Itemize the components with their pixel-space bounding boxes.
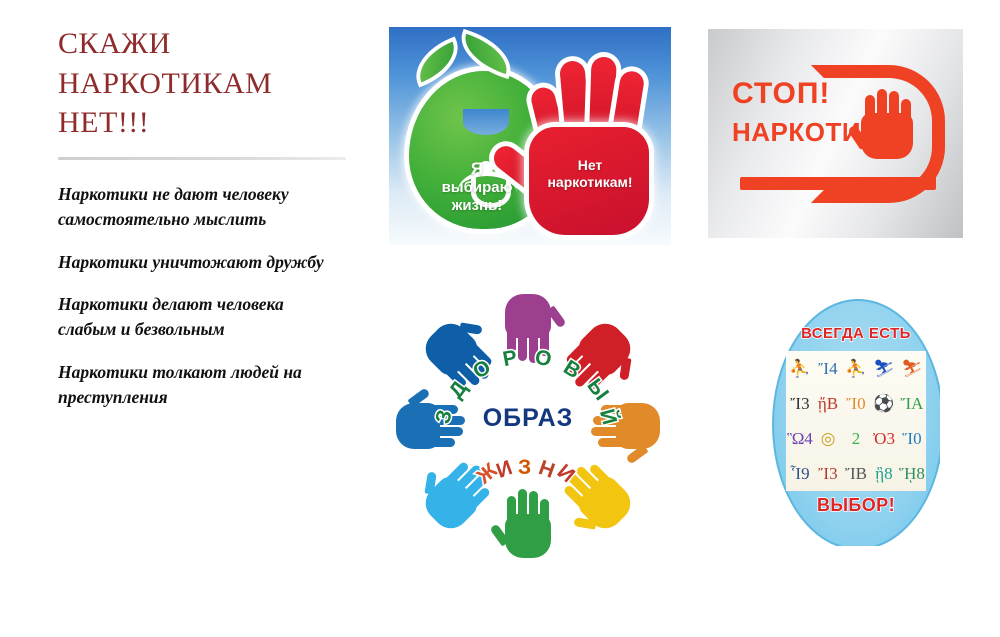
apple-slogan-line-2: выбираю — [442, 179, 513, 196]
volleyball-player-icon: Ἵ0 — [898, 421, 926, 456]
sprinter-icon: Ἴ3 — [814, 456, 842, 491]
swimmer-icon: ἼA — [898, 386, 926, 421]
list-item: Наркотики делают человека слабым и безво… — [58, 292, 336, 343]
left-text-column: СКАЖИ НАРКОТИКАМ НЕТ!!! Наркотики не даю… — [58, 24, 358, 427]
list-item: Наркотики толкают людей на преступления — [58, 360, 336, 411]
hand-slogan-line-2: наркотикам! — [547, 174, 632, 190]
basketball-ball-icon: Ἴ0 — [842, 386, 870, 421]
ring-letter: В — [558, 356, 584, 384]
ring-letter: Р — [501, 346, 519, 372]
green-ball-icon: ὾2 — [842, 421, 870, 456]
stop-hand-icon — [855, 83, 917, 161]
choice-slogan-top: ВСЕГДА ЕСТЬ — [772, 325, 940, 342]
skater-icon: ⛷ — [870, 351, 898, 386]
basketball-player-icon: ⛹ — [842, 351, 870, 386]
stop-bar-shape — [740, 177, 936, 190]
poster-healthy-lifestyle: ЗДОРОВЫЙ ОБРАЗ ЖИЗНИ — [378, 286, 678, 566]
ski-jump-icon: ⛷ — [898, 351, 926, 386]
ring-letter: О — [533, 346, 554, 373]
title-divider — [58, 157, 346, 160]
jumper-icon: ᾓ8 — [870, 456, 898, 491]
page-title: СКАЖИ НАРКОТИКАМ НЕТ!!! — [58, 24, 358, 143]
diver-icon: Ἴ4 — [814, 351, 842, 386]
weightlifter-icon: ἼB — [842, 456, 870, 491]
cyclist-icon: Ὣ4 — [786, 421, 814, 456]
apple-leaf-right-icon — [458, 34, 514, 74]
ring-letter: О — [469, 356, 496, 385]
apple-leaf-left-icon — [412, 42, 463, 83]
hand-palm — [861, 113, 913, 159]
ring-word-bottom: ЖИЗНИ — [378, 442, 678, 512]
poster-canvas: СКАЖИ НАРКОТИКАМ НЕТ!!! Наркотики не даю… — [0, 0, 1000, 637]
spiral-icon: ◎ — [814, 421, 842, 456]
sports-collage: ⛹Ἴ4⛹⛷⛷Ἴ3ᾔBἼ0⚽ἼAὫ4◎὾2Ὀ3Ἵ0Ἷ9Ἴ3ἼBᾓ8ᾝ8 — [786, 351, 926, 491]
apple-notch — [463, 109, 509, 135]
runner-icon: Ἴ3 — [786, 386, 814, 421]
handprint-palm — [505, 514, 551, 558]
yoga-icon: ᾝ8 — [898, 456, 926, 491]
ring-letter: З — [518, 456, 531, 480]
apple-slogan-line-3: жизнь! — [452, 197, 503, 214]
soccer-ball-icon: ⚽ — [870, 386, 898, 421]
choice-slogan-bottom: ВЫБОР! — [772, 495, 940, 516]
archer-icon: Ἷ9 — [786, 456, 814, 491]
gymnast-icon: ⛹ — [786, 351, 814, 386]
ring-letter: Ы — [581, 375, 613, 406]
poster-apple-hand: Я выбираю жизнь! Нет наркотикам! — [389, 27, 671, 245]
poster-stop-drugs: СТОП! НАРКОТИК! — [708, 29, 963, 238]
poster-always-a-choice: ВСЕГДА ЕСТЬ ⛹Ἴ4⛹⛷⛷Ἴ3ᾔBἼ0⚽ἼAὫ4◎὾2Ὀ3Ἵ0Ἷ9Ἴ3… — [772, 299, 940, 546]
hand-slogan-line-1: Нет — [578, 157, 603, 173]
ring-word-middle: ОБРАЗ — [378, 404, 678, 433]
karate-icon: ᾔB — [814, 386, 842, 421]
red-hand-icon: Нет наркотикам! — [515, 53, 663, 237]
list-item: Наркотики не дают человеку самостоятельн… — [58, 182, 336, 233]
list-item: Наркотики уничтожают дружбу — [58, 250, 336, 275]
dancer-icon: Ὀ3 — [870, 421, 898, 456]
hand-slogan: Нет наркотикам! — [531, 157, 649, 191]
bullet-list: Наркотики не дают человеку самостоятельн… — [58, 182, 358, 411]
ring-letter: Д — [445, 377, 473, 403]
